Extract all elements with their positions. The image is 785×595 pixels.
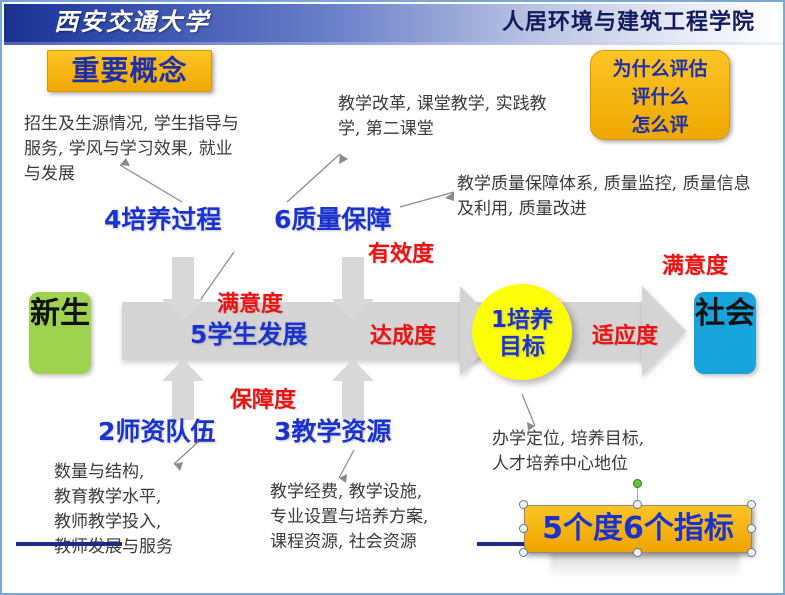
slide-canvas: 西安交通大学 人居环境与建筑工程学院 重要概念 为什么评估 评什么 怎么评 招生… — [0, 0, 785, 595]
arrow-up-teaching-resources — [332, 359, 374, 419]
why-evaluate-line-1: 为什么评估 — [591, 55, 729, 83]
arrow-stem — [172, 380, 194, 420]
resize-handle-top-left[interactable] — [519, 500, 528, 509]
arrow-up-faculty-team — [162, 359, 204, 419]
why-evaluate-box[interactable]: 为什么评估 评什么 怎么评 — [590, 50, 730, 140]
why-evaluate-line-2: 评什么 — [591, 83, 729, 111]
note-teaching-resources: 教学经费, 教学设施, 专业设置与培养方案, 课程资源, 社会资源 — [270, 480, 500, 555]
degree-effectiveness: 有效度 — [368, 242, 434, 268]
resize-handle-bottom-center[interactable] — [633, 548, 642, 557]
degree-achievement: 达成度 — [370, 324, 436, 350]
college-name: 人居环境与建筑工程学院 — [502, 7, 755, 37]
arrow-stem — [342, 257, 364, 299]
arrow-tip — [332, 359, 374, 381]
resize-handle-top-right[interactable] — [747, 500, 756, 509]
decor-line-left — [16, 542, 122, 546]
note-student-development: 招生及生源情况, 学生指导与服务, 学风与学习效果, 就业与发展 — [24, 112, 239, 187]
resize-handle-middle-left[interactable] — [519, 524, 528, 533]
indicator-1-training-goal[interactable]: 1培养 目标 — [482, 307, 562, 361]
arrow-stem — [342, 380, 364, 420]
degree-satisfaction-top: 满意度 — [217, 292, 283, 318]
arrow-tip — [162, 359, 204, 381]
arrow-down-training-process — [162, 257, 204, 321]
arrow-tip — [162, 299, 204, 321]
resize-handle-top-center[interactable] — [633, 500, 642, 509]
five-degrees-six-indicators-box[interactable]: 5个度6个指标 — [524, 505, 752, 553]
arrow-tip — [332, 299, 374, 321]
header-underline — [4, 42, 783, 45]
note-quality-assurance: 教学质量保障体系, 质量监控, 质量信息及利用, 质量改进 — [457, 172, 757, 222]
rotate-handle[interactable] — [633, 479, 642, 488]
note-training-goal: 办学定位, 培养目标, 人才培养中心地位 — [492, 427, 732, 477]
indicator-3-teaching-resources[interactable]: 3教学资源 — [274, 417, 391, 447]
selected-shape-group[interactable]: 5个度6个指标 — [524, 505, 752, 553]
arrow-stem — [172, 257, 194, 299]
why-evaluate-line-3: 怎么评 — [591, 111, 729, 139]
degree-adaptability: 适应度 — [592, 324, 658, 350]
degree-satisfaction-right: 满意度 — [662, 254, 728, 280]
new-student-box[interactable]: 新生 — [29, 292, 91, 374]
indicator-6-quality-assurance[interactable]: 6质量保障 — [274, 205, 391, 235]
resize-handle-bottom-left[interactable] — [519, 548, 528, 557]
key-concept-box[interactable]: 重要概念 — [47, 50, 212, 92]
indicator-4-training-process[interactable]: 4培养过程 — [104, 205, 221, 235]
shape-shadow-smudge — [550, 552, 740, 578]
resize-handle-bottom-right[interactable] — [747, 548, 756, 557]
resize-handle-middle-right[interactable] — [747, 524, 756, 533]
indicator-5-student-development[interactable]: 5学生发展 — [190, 320, 307, 350]
degree-assurance: 保障度 — [230, 388, 296, 414]
society-box[interactable]: 社会 — [694, 292, 756, 374]
university-logo: 西安交通大学 — [54, 6, 234, 38]
note-teaching-process: 教学改革, 课堂教学, 实践教学, 第二课堂 — [338, 92, 568, 142]
indicator-2-faculty-team[interactable]: 2师资队伍 — [98, 417, 215, 447]
